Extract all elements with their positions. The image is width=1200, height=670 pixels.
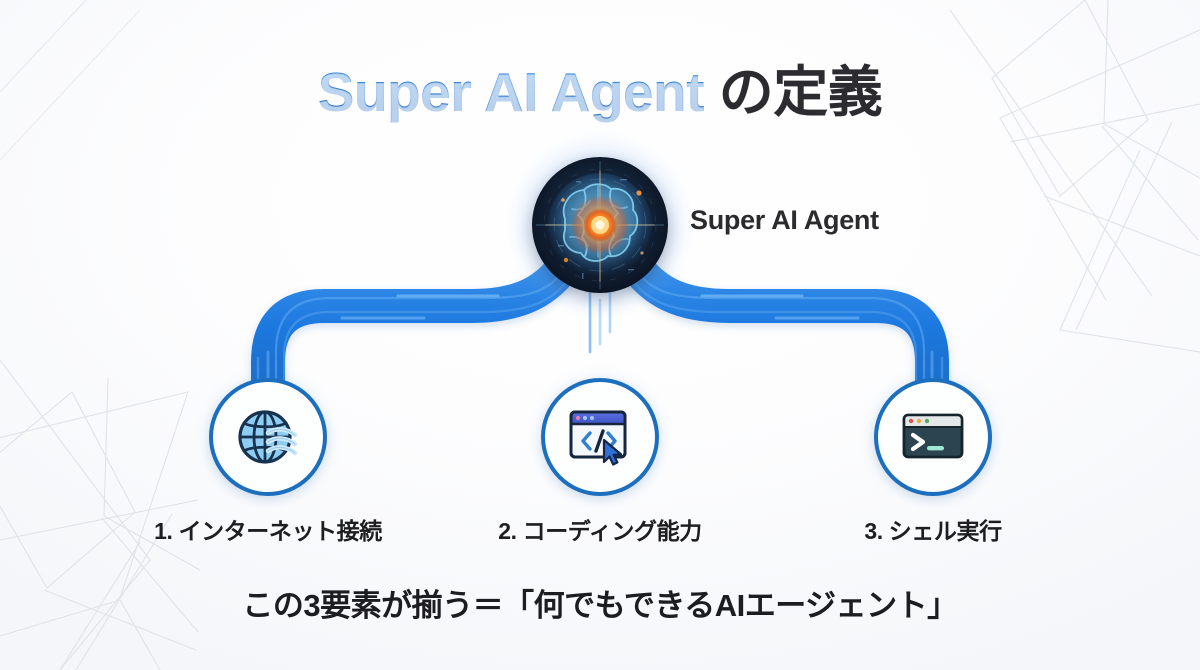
node-shell-caption: 3. シェル実行 bbox=[763, 512, 1103, 546]
node-coding-disc bbox=[541, 378, 659, 496]
globe-wifi-icon bbox=[231, 400, 305, 474]
root-node-disc bbox=[532, 157, 668, 293]
root-node-label: Super AI Agent bbox=[690, 205, 879, 236]
code-browser-icon bbox=[563, 400, 637, 474]
slide-canvas: Super AI Agent の定義 bbox=[0, 0, 1200, 670]
brain-icon bbox=[532, 157, 668, 293]
connector-diagram bbox=[0, 0, 1200, 670]
node-internet[interactable] bbox=[209, 378, 327, 496]
node-shell-disc bbox=[874, 378, 992, 496]
node-coding[interactable] bbox=[541, 378, 659, 496]
terminal-icon bbox=[896, 400, 970, 474]
slide-footer: この3要素が揃う＝「何でもできるAIエージェント」 bbox=[0, 580, 1200, 625]
node-internet-disc bbox=[209, 378, 327, 496]
node-internet-caption: 1. インターネット接続 bbox=[98, 512, 438, 546]
node-coding-caption: 2. コーディング能力 bbox=[430, 512, 770, 546]
node-shell[interactable] bbox=[874, 378, 992, 496]
root-node[interactable] bbox=[532, 157, 668, 293]
